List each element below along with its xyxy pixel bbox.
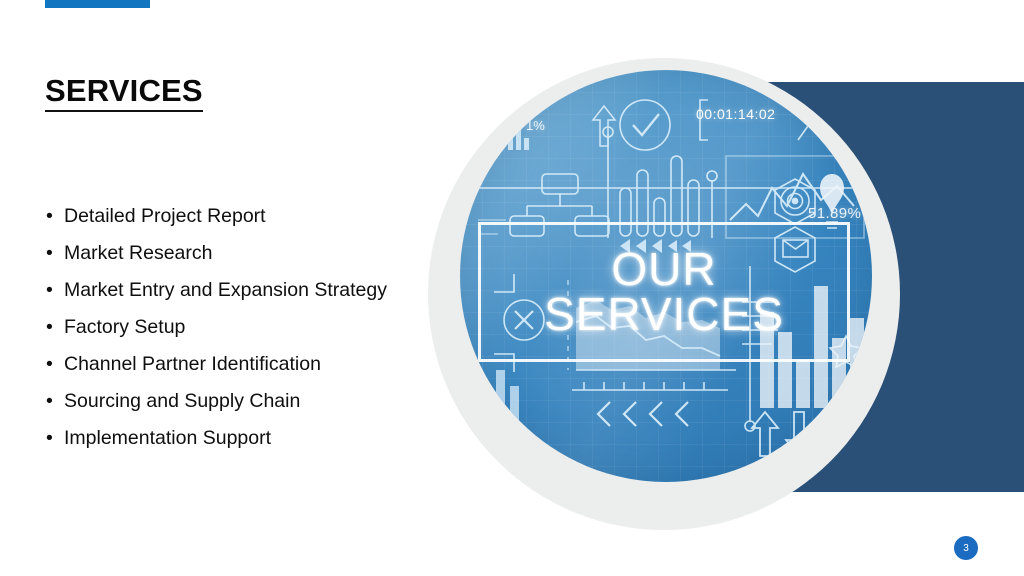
list-item-label: Factory Setup [64, 316, 185, 338]
services-circular-artwork: 00:01:14:02 1% 51.89% OUR SERVICES [428, 58, 900, 530]
percent-large-label: 51.89% [808, 205, 861, 222]
slide-canvas: 00:01:14:02 1% 51.89% OUR SERVICES SERVI… [0, 0, 1024, 576]
list-item: • Sourcing and Supply Chain [44, 387, 436, 415]
list-item-label: Sourcing and Supply Chain [64, 390, 300, 412]
services-bullet-list: • Detailed Project Report • Market Resea… [44, 202, 436, 462]
list-item: • Factory Setup [44, 313, 436, 341]
bullet-marker: • [46, 424, 53, 452]
list-item: • Implementation Support [44, 424, 436, 452]
list-item-label: Market Entry and Expansion Strategy [64, 279, 387, 301]
our-services-line2: SERVICES [544, 288, 784, 340]
bullet-marker: • [46, 202, 53, 230]
page-title: SERVICES [45, 75, 203, 112]
list-item: • Market Research [44, 239, 436, 267]
percent-small-label: 1% [526, 118, 545, 133]
bullet-marker: • [46, 350, 53, 378]
our-services-label: OUR SERVICES [544, 247, 784, 337]
list-item-label: Market Research [64, 242, 212, 264]
list-item-label: Channel Partner Identification [64, 353, 321, 375]
list-item: • Channel Partner Identification [44, 350, 436, 378]
bullet-marker: • [46, 239, 53, 267]
artwork-photo: 00:01:14:02 1% 51.89% OUR SERVICES [460, 70, 872, 482]
list-item: • Detailed Project Report [44, 202, 436, 230]
list-item: • Market Entry and Expansion Strategy [44, 276, 436, 304]
bullet-marker: • [46, 276, 53, 304]
bullet-marker: • [46, 313, 53, 341]
list-item-label: Detailed Project Report [64, 205, 266, 227]
bullet-marker: • [46, 387, 53, 415]
list-item-label: Implementation Support [64, 427, 271, 449]
timer-readout: 00:01:14:02 [696, 106, 775, 122]
our-services-label-box: OUR SERVICES [478, 222, 850, 362]
top-accent-bar [45, 0, 150, 8]
slide-number-badge: 3 [954, 536, 978, 560]
